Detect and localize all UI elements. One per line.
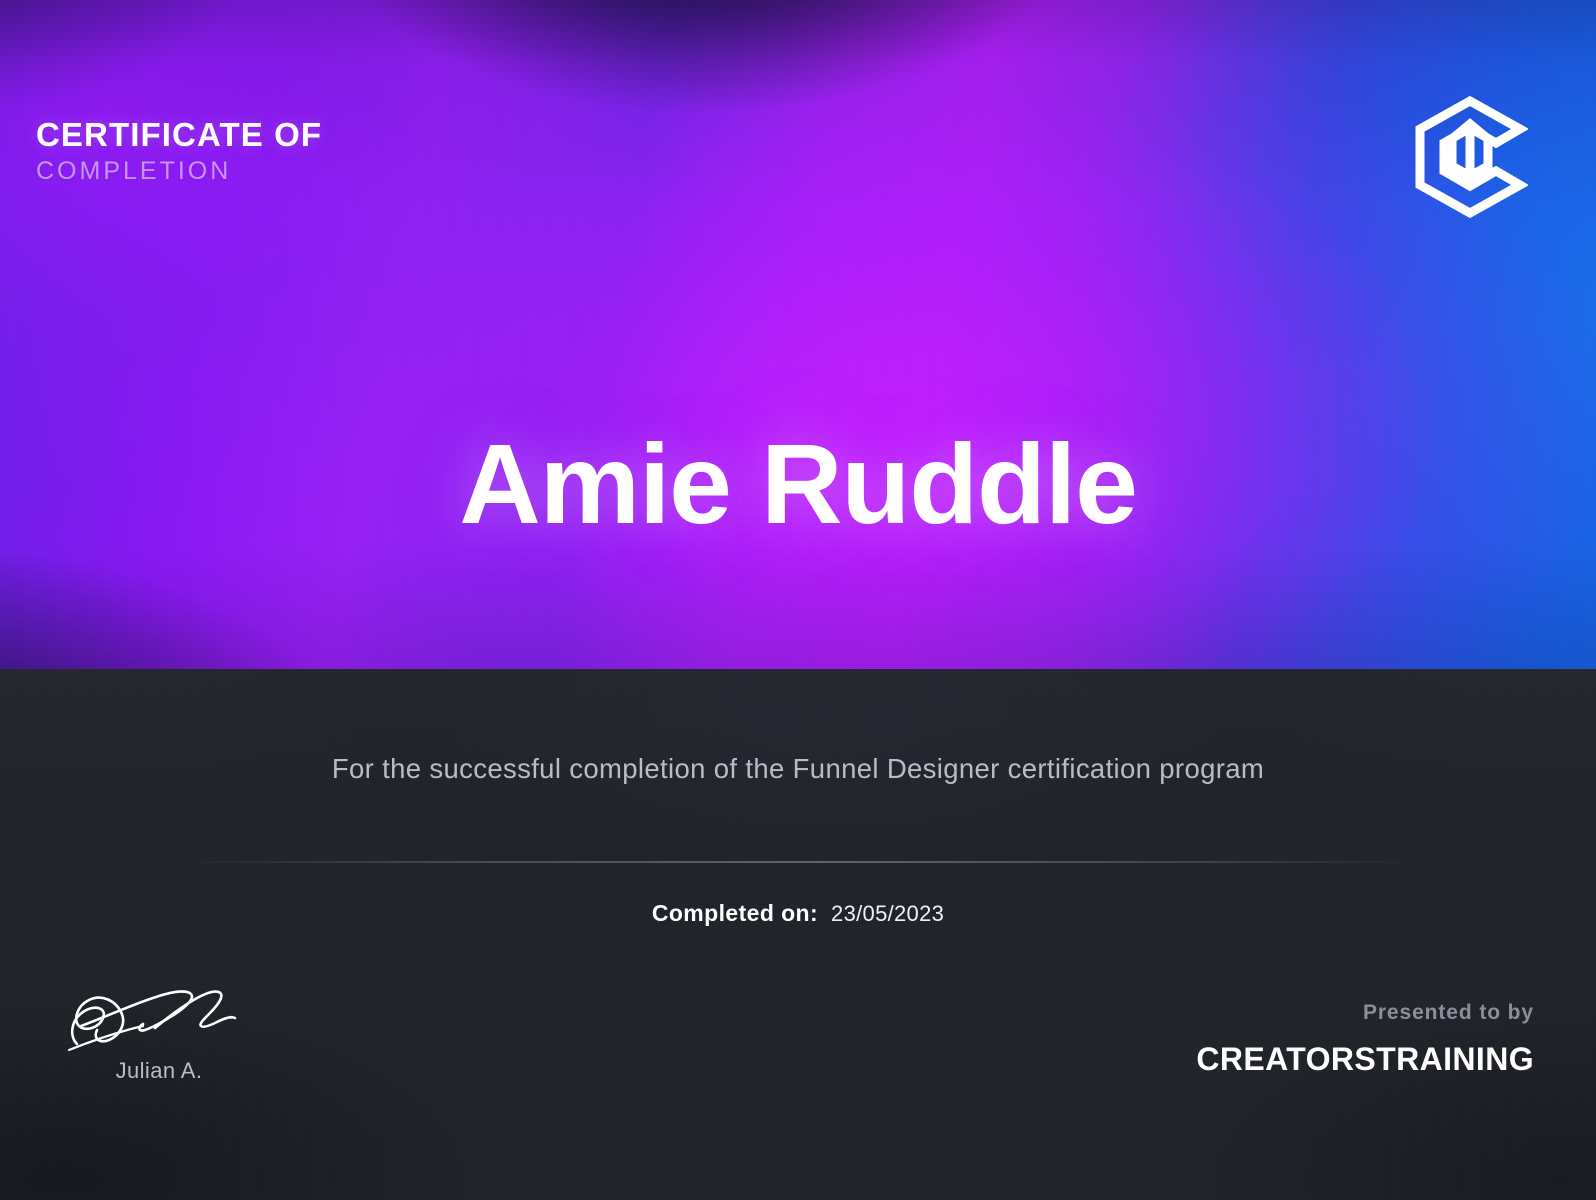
gradient-banner <box>0 0 1596 669</box>
presented-by-block: Presented to by CREATORSTRAINING <box>1196 1000 1534 1077</box>
gradient-noise-texture <box>0 0 1596 669</box>
section-divider <box>180 861 1416 863</box>
handwritten-signature-icon <box>59 970 259 1056</box>
completed-on-label: Completed on: <box>652 900 818 927</box>
creatorstraining-logo-icon <box>1412 94 1528 220</box>
presented-by-brand: CREATORSTRAINING <box>1196 1042 1534 1077</box>
presented-by-label: Presented to by <box>1196 1000 1534 1025</box>
certificate-completion-card: CERTIFICATE OF COMPLETION Amie Ruddle Fo… <box>0 0 1596 1200</box>
completion-date-row: Completed on: 23/05/2023 <box>0 900 1596 927</box>
signer-name: Julian A. <box>34 1058 284 1084</box>
page-subtitle: COMPLETION <box>36 158 322 186</box>
certificate-header: CERTIFICATE OF COMPLETION <box>36 118 322 186</box>
page-title: CERTIFICATE OF <box>36 118 322 152</box>
certificate-description: For the successful completion of the Fun… <box>0 752 1596 786</box>
signature-block: Julian A. <box>34 970 284 1084</box>
completed-on-value: 23/05/2023 <box>831 901 944 927</box>
details-panel <box>0 669 1596 1200</box>
panel-noise-texture <box>0 669 1596 1200</box>
recipient-name: Amie Ruddle <box>0 428 1596 541</box>
